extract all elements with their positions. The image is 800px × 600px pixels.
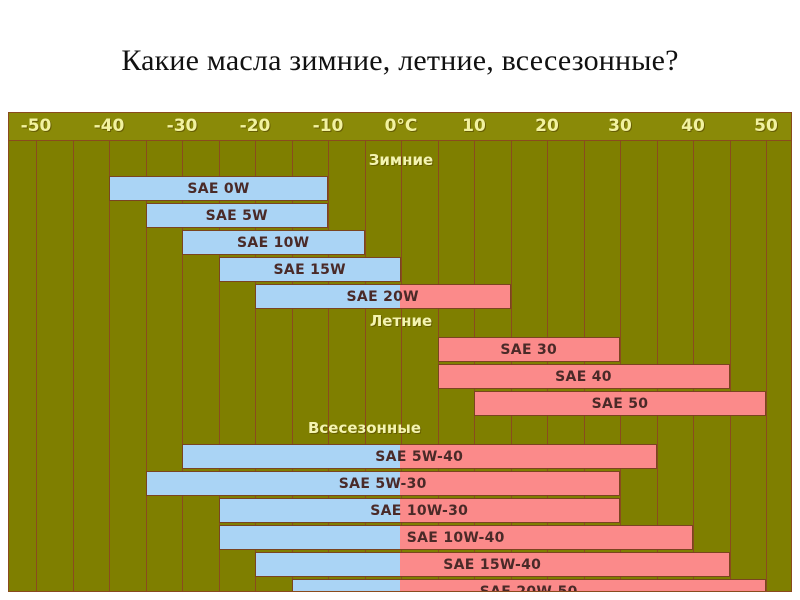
axis-tick-0C: 0°C xyxy=(385,116,418,136)
axis-tick--10: -10 xyxy=(313,116,344,136)
bar-label: SAE 5W xyxy=(147,208,328,224)
bar-sae-5w: SAE 5W xyxy=(146,203,329,228)
axis-tick--30: -30 xyxy=(167,116,198,136)
bar-sae-40: SAE 40 xyxy=(438,364,730,389)
section-label-3: Всесезонные xyxy=(308,419,421,437)
bar-label: SAE 30 xyxy=(439,342,620,358)
bar-sae-5w-30: SAE 5W-30 xyxy=(146,471,621,496)
chart-plot-area: ЗимниеSAE 0WSAE 5WSAE 10WSAE 15WSAE 20WЛ… xyxy=(9,141,791,591)
bar-label: SAE 10W xyxy=(183,235,364,251)
section-label-1: Зимние xyxy=(369,151,433,169)
temperature-axis-strip: -50-40-30-20-100°C1020304050 xyxy=(9,113,791,141)
bar-sae-20w-50: SAE 20W-50 xyxy=(292,579,767,592)
bar-label: SAE 5W-30 xyxy=(147,476,620,492)
bar-sae-15w: SAE 15W xyxy=(219,257,402,282)
bar-label: SAE 10W-40 xyxy=(220,530,693,546)
oil-viscosity-chart: -50-40-30-20-100°C1020304050 ЗимниеSAE 0… xyxy=(8,112,792,592)
bar-label: SAE 20W-50 xyxy=(293,584,766,593)
bar-label: SAE 5W-40 xyxy=(183,449,656,465)
bar-sae-5w-40: SAE 5W-40 xyxy=(182,444,657,469)
section-label-2: Летние xyxy=(370,312,432,330)
bar-sae-10w: SAE 10W xyxy=(182,230,365,255)
bar-sae-0w: SAE 0W xyxy=(109,176,328,201)
axis-tick-10: 10 xyxy=(462,116,486,136)
axis-tick-40: 40 xyxy=(681,116,705,136)
axis-tick--50: -50 xyxy=(21,116,52,136)
bar-sae-10w-40: SAE 10W-40 xyxy=(219,525,694,550)
bar-label: SAE 10W-30 xyxy=(220,503,620,519)
bar-label: SAE 0W xyxy=(110,181,327,197)
axis-tick--40: -40 xyxy=(94,116,125,136)
bar-sae-10w-30: SAE 10W-30 xyxy=(219,498,621,523)
bar-label: SAE 15W-40 xyxy=(256,557,729,573)
bar-sae-30: SAE 30 xyxy=(438,337,621,362)
bar-sae-15w-40: SAE 15W-40 xyxy=(255,552,730,577)
bar-label: SAE 50 xyxy=(475,396,765,412)
bar-sae-50: SAE 50 xyxy=(474,391,766,416)
axis-tick-20: 20 xyxy=(535,116,559,136)
bar-label: SAE 15W xyxy=(220,262,401,278)
axis-tick--20: -20 xyxy=(240,116,271,136)
bar-label: SAE 20W xyxy=(256,289,510,305)
slide-root: Какие масла зимние, летние, всесезонные?… xyxy=(0,0,800,600)
bar-label: SAE 40 xyxy=(439,369,729,385)
page-title: Какие масла зимние, летние, всесезонные? xyxy=(0,44,800,78)
axis-tick-50: 50 xyxy=(754,116,778,136)
axis-tick-30: 30 xyxy=(608,116,632,136)
bar-sae-20w: SAE 20W xyxy=(255,284,511,309)
